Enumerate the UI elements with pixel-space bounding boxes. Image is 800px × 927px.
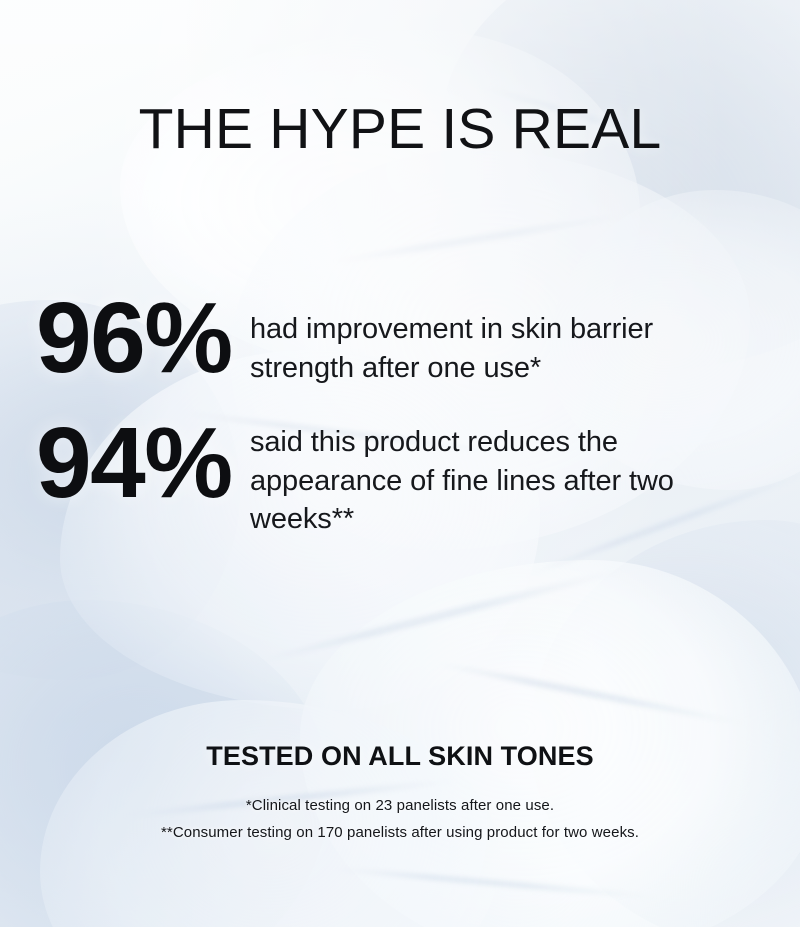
stat-value-96: 96%	[36, 290, 250, 386]
tested-on-all-skin-tones-banner: TESTED ON ALL SKIN TONES	[0, 741, 800, 772]
stat-row: 94% said this product reduces the appear…	[0, 415, 800, 539]
stat-description-96: had improvement in skin barrier strength…	[250, 290, 720, 387]
stat-description-94: said this product reduces the appearance…	[250, 415, 720, 539]
stats-list: 96% had improvement in skin barrier stre…	[0, 290, 800, 539]
page-title: THE HYPE IS REAL	[0, 101, 800, 158]
stat-value-94: 94%	[36, 415, 250, 511]
footnotes-block: *Clinical testing on 23 panelists after …	[0, 793, 800, 846]
promo-banner: THE HYPE IS REAL 96% had improvement in …	[0, 0, 800, 927]
footnote-consumer-testing: **Consumer testing on 170 panelists afte…	[0, 820, 800, 847]
promo-content: THE HYPE IS REAL 96% had improvement in …	[0, 0, 800, 927]
stat-row: 96% had improvement in skin barrier stre…	[0, 290, 800, 387]
footnote-clinical-testing: *Clinical testing on 23 panelists after …	[0, 793, 800, 820]
